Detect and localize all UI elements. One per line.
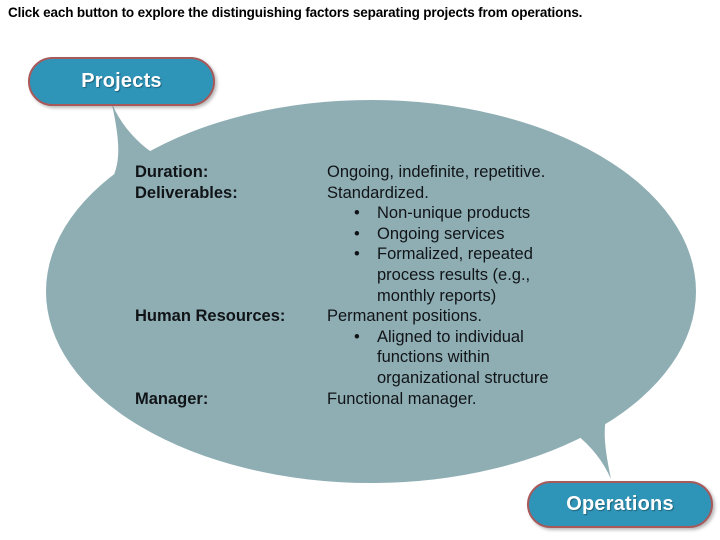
operations-button[interactable]: Operations (527, 481, 713, 528)
list-item: • Formalized, repeated process results (… (327, 244, 585, 306)
deliverables-bullet-list: • Non-unique products • Ongoing services… (327, 203, 585, 306)
list-item: • Aligned to individual functions within… (327, 327, 585, 389)
row-label-duration: Duration: (135, 162, 327, 183)
list-item: • Ongoing services (327, 224, 585, 245)
bullet-icon: • (354, 244, 360, 265)
content-row-duration: Duration: Ongoing, indefinite, repetitiv… (135, 162, 585, 183)
bullet-icon: • (354, 224, 360, 245)
row-label-deliverables: Deliverables: (135, 183, 327, 204)
content-row-manager: Manager: Functional manager. (135, 389, 585, 410)
list-item-text: Ongoing services (377, 225, 504, 243)
list-item-text: Non-unique products (377, 204, 530, 222)
row-value-human-resources: Permanent positions. (327, 306, 585, 327)
row-label-manager: Manager: (135, 389, 327, 410)
bullet-icon: • (354, 203, 360, 224)
row-value-deliverables-block: Standardized. • Non-unique products • On… (327, 183, 585, 307)
content-row-deliverables: Deliverables: Standardized. • Non-unique… (135, 183, 585, 307)
projects-button[interactable]: Projects (28, 57, 215, 106)
row-label-human-resources: Human Resources: (135, 306, 327, 327)
list-item-text: Formalized, repeated process results (e.… (377, 245, 533, 304)
human-resources-bullet-list: • Aligned to individual functions within… (327, 327, 585, 389)
comparison-content: Duration: Ongoing, indefinite, repetitiv… (135, 162, 585, 409)
row-value-manager: Functional manager. (327, 389, 585, 410)
bullet-icon: • (354, 327, 360, 348)
row-value-deliverables: Standardized. (327, 183, 585, 204)
projects-button-label: Projects (81, 70, 162, 93)
slide-canvas: Click each button to explore the disting… (0, 0, 720, 540)
row-value-human-resources-block: Permanent positions. • Aligned to indivi… (327, 306, 585, 388)
list-item-text: Aligned to individual functions within o… (377, 328, 549, 387)
list-item: • Non-unique products (327, 203, 585, 224)
content-row-human-resources: Human Resources: Permanent positions. • … (135, 306, 585, 388)
row-value-duration: Ongoing, indefinite, repetitive. (327, 162, 585, 183)
operations-button-label: Operations (566, 493, 674, 516)
